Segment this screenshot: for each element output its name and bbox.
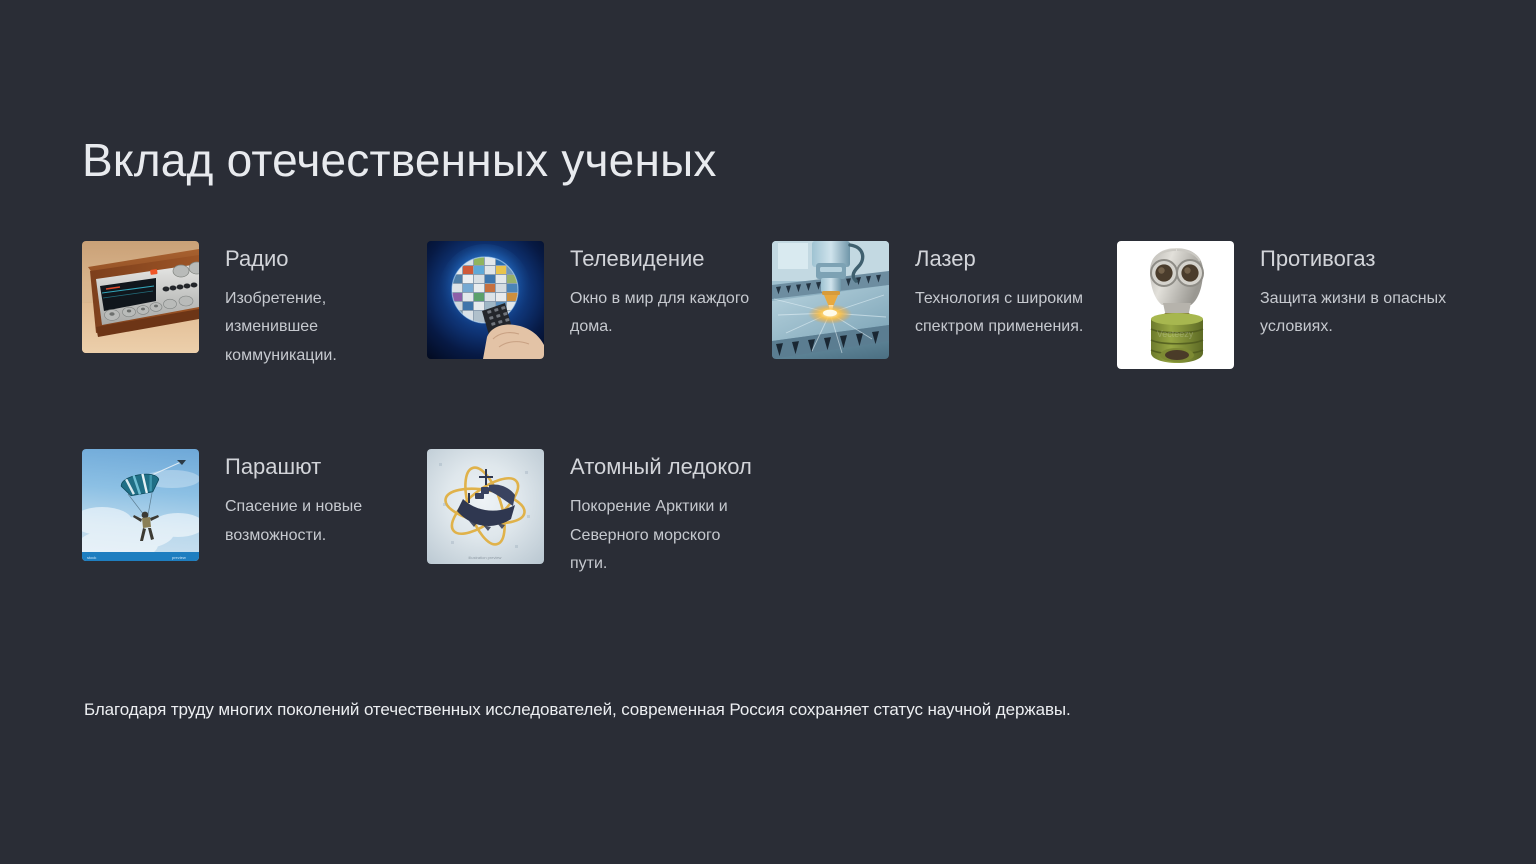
card-radio[interactable]: Радио Изобретение, изменившее коммуникац…: [82, 241, 427, 370]
nuclear-icebreaker-icon: illustration preview: [427, 449, 544, 564]
footer-note: Благодаря труду многих поколений отечест…: [84, 700, 1071, 720]
parachute-image: stock preview: [82, 449, 199, 561]
card-description: Технология с широким спектром применения…: [915, 285, 1105, 342]
card-parachute[interactable]: stock preview Парашют Спасение и новые в…: [82, 449, 427, 561]
card-description: Окно в мир для каждого дома.: [570, 285, 760, 342]
card-text-gas-mask: Противогаз Защита жизни в опасных услови…: [1260, 241, 1450, 342]
parachutist-icon: stock preview: [82, 449, 199, 561]
card-title: Парашют: [225, 451, 415, 483]
card-description: Защита жизни в опасных условиях.: [1260, 285, 1450, 342]
card-title: Радио: [225, 243, 415, 275]
card-title: Противогаз: [1260, 243, 1450, 275]
page-title: Вклад отечественных ученых: [82, 134, 717, 187]
gas-mask-icon: Vecteezy: [1117, 241, 1234, 369]
card-text-laser: Лазер Технология с широким спектром прим…: [915, 241, 1105, 342]
svg-text:preview: preview: [172, 555, 186, 560]
card-description: Спасение и новые возможности.: [225, 493, 415, 550]
card-icebreaker[interactable]: illustration preview Атомный ледокол Пок…: [427, 449, 772, 578]
card-television[interactable]: Телевидение Окно в мир для каждого дома.: [427, 241, 772, 359]
radio-image: [82, 241, 199, 353]
card-text-television: Телевидение Окно в мир для каждого дома.: [570, 241, 760, 342]
card-description: Покорение Арктики и Северного морского п…: [570, 493, 760, 578]
card-text-icebreaker: Атомный ледокол Покорение Арктики и Севе…: [570, 449, 760, 578]
card-description: Изобретение, изменившее коммуникации.: [225, 285, 415, 370]
laser-cutter-icon: [772, 241, 889, 359]
card-laser[interactable]: Лазер Технология с широким спектром прим…: [772, 241, 1117, 359]
cards-row-1: Радио Изобретение, изменившее коммуникац…: [82, 241, 1462, 370]
card-text-parachute: Парашют Спасение и новые возможности.: [225, 449, 415, 550]
slide-root: Вклад отечественных ученых: [0, 0, 1536, 864]
svg-text:Vecteezy: Vecteezy: [1157, 329, 1194, 339]
card-text-radio: Радио Изобретение, изменившее коммуникац…: [225, 241, 415, 370]
cards-grid: Радио Изобретение, изменившее коммуникац…: [82, 241, 1462, 579]
vintage-radio-icon: [82, 241, 199, 353]
card-title: Лазер: [915, 243, 1105, 275]
television-image: [427, 241, 544, 359]
gas-mask-image: Vecteezy: [1117, 241, 1234, 369]
laser-image: [772, 241, 889, 359]
icebreaker-image: illustration preview: [427, 449, 544, 564]
cards-row-2: stock preview Парашют Спасение и новые в…: [82, 449, 1462, 578]
tv-globe-icon: [427, 241, 544, 359]
card-gas-mask[interactable]: Vecteezy Противогаз Защита жизни в опасн…: [1117, 241, 1462, 369]
card-title: Атомный ледокол: [570, 451, 760, 483]
svg-text:stock: stock: [87, 555, 96, 560]
svg-text:illustration preview: illustration preview: [469, 555, 502, 560]
card-title: Телевидение: [570, 243, 760, 275]
